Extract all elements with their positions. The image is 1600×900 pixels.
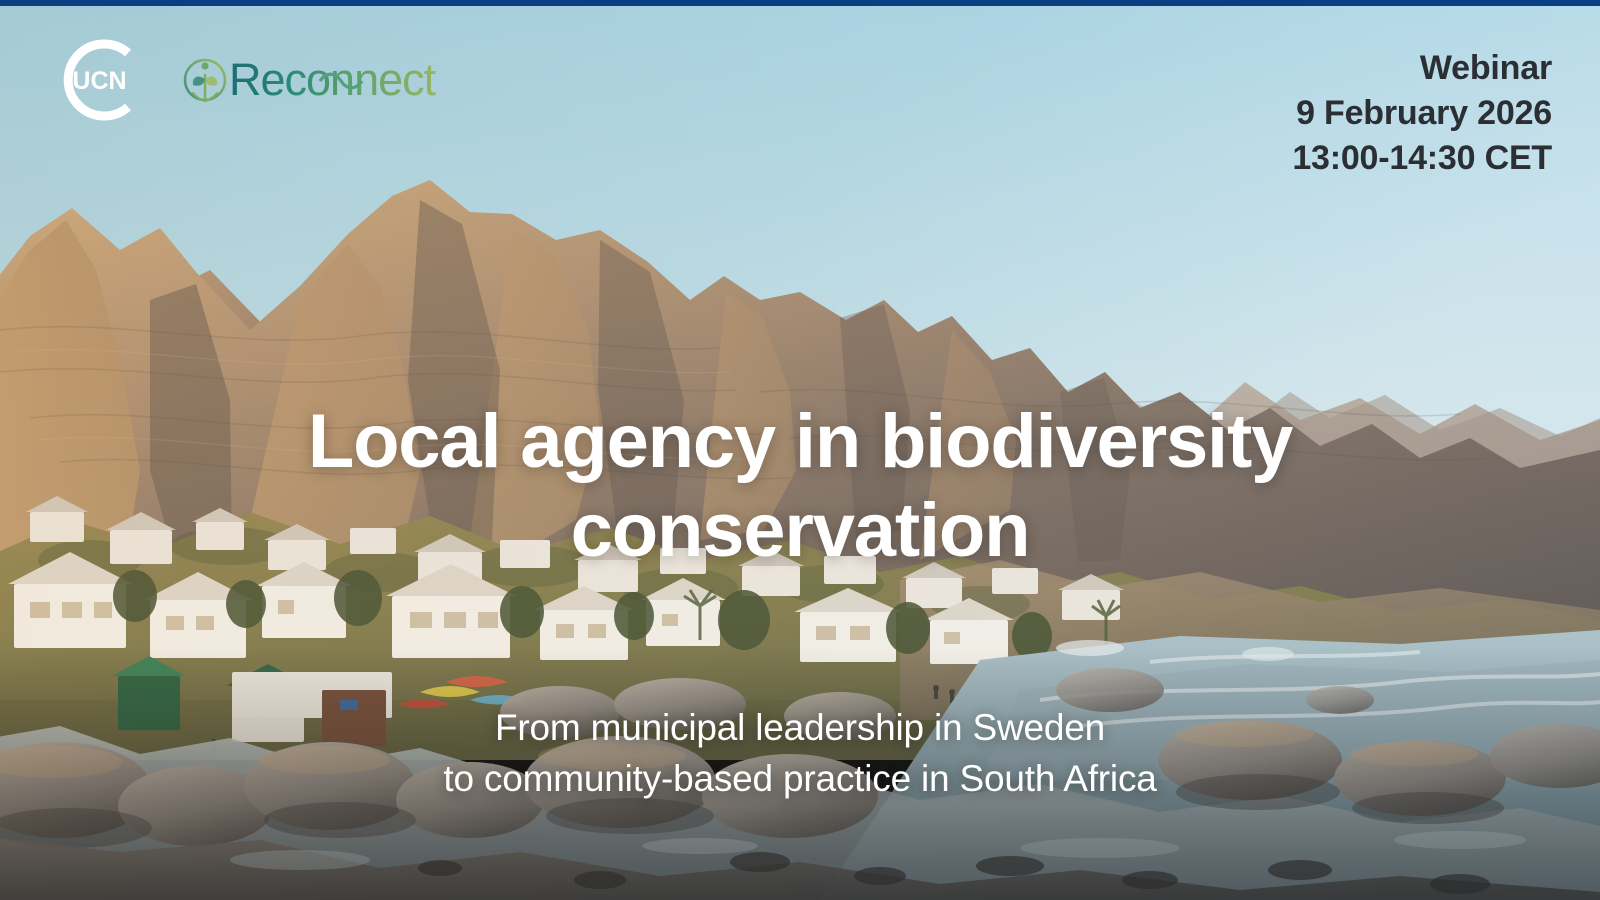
top-accent-rule (0, 0, 1600, 6)
reconnect-wordmark: Reconnect (229, 54, 437, 105)
page-subtitle: From municipal leadership in Sweden to c… (0, 702, 1600, 804)
subtitle-line-1: From municipal leadership in Sweden (180, 702, 1420, 753)
page-title: Local agency in biodiversity conservatio… (0, 398, 1600, 576)
webinar-promo-banner: IUCN (0, 0, 1600, 900)
webinar-meta: Webinar 9 February 2026 13:00-14:30 CET (1292, 46, 1552, 181)
subtitle-line-2: to community-based practice in South Afr… (180, 753, 1420, 804)
iucn-ring-logo: IUCN (40, 36, 144, 124)
meta-date: 9 February 2026 (1292, 91, 1552, 136)
iucn-wordmark: IUCN (65, 67, 126, 95)
meta-kind: Webinar (1292, 46, 1552, 91)
logo-lockup: IUCN (40, 36, 480, 124)
meta-time: 13:00-14:30 CET (1292, 136, 1552, 181)
sprout-in-circle-icon (185, 60, 225, 101)
reconnect-logo: Reconnect (180, 49, 480, 111)
